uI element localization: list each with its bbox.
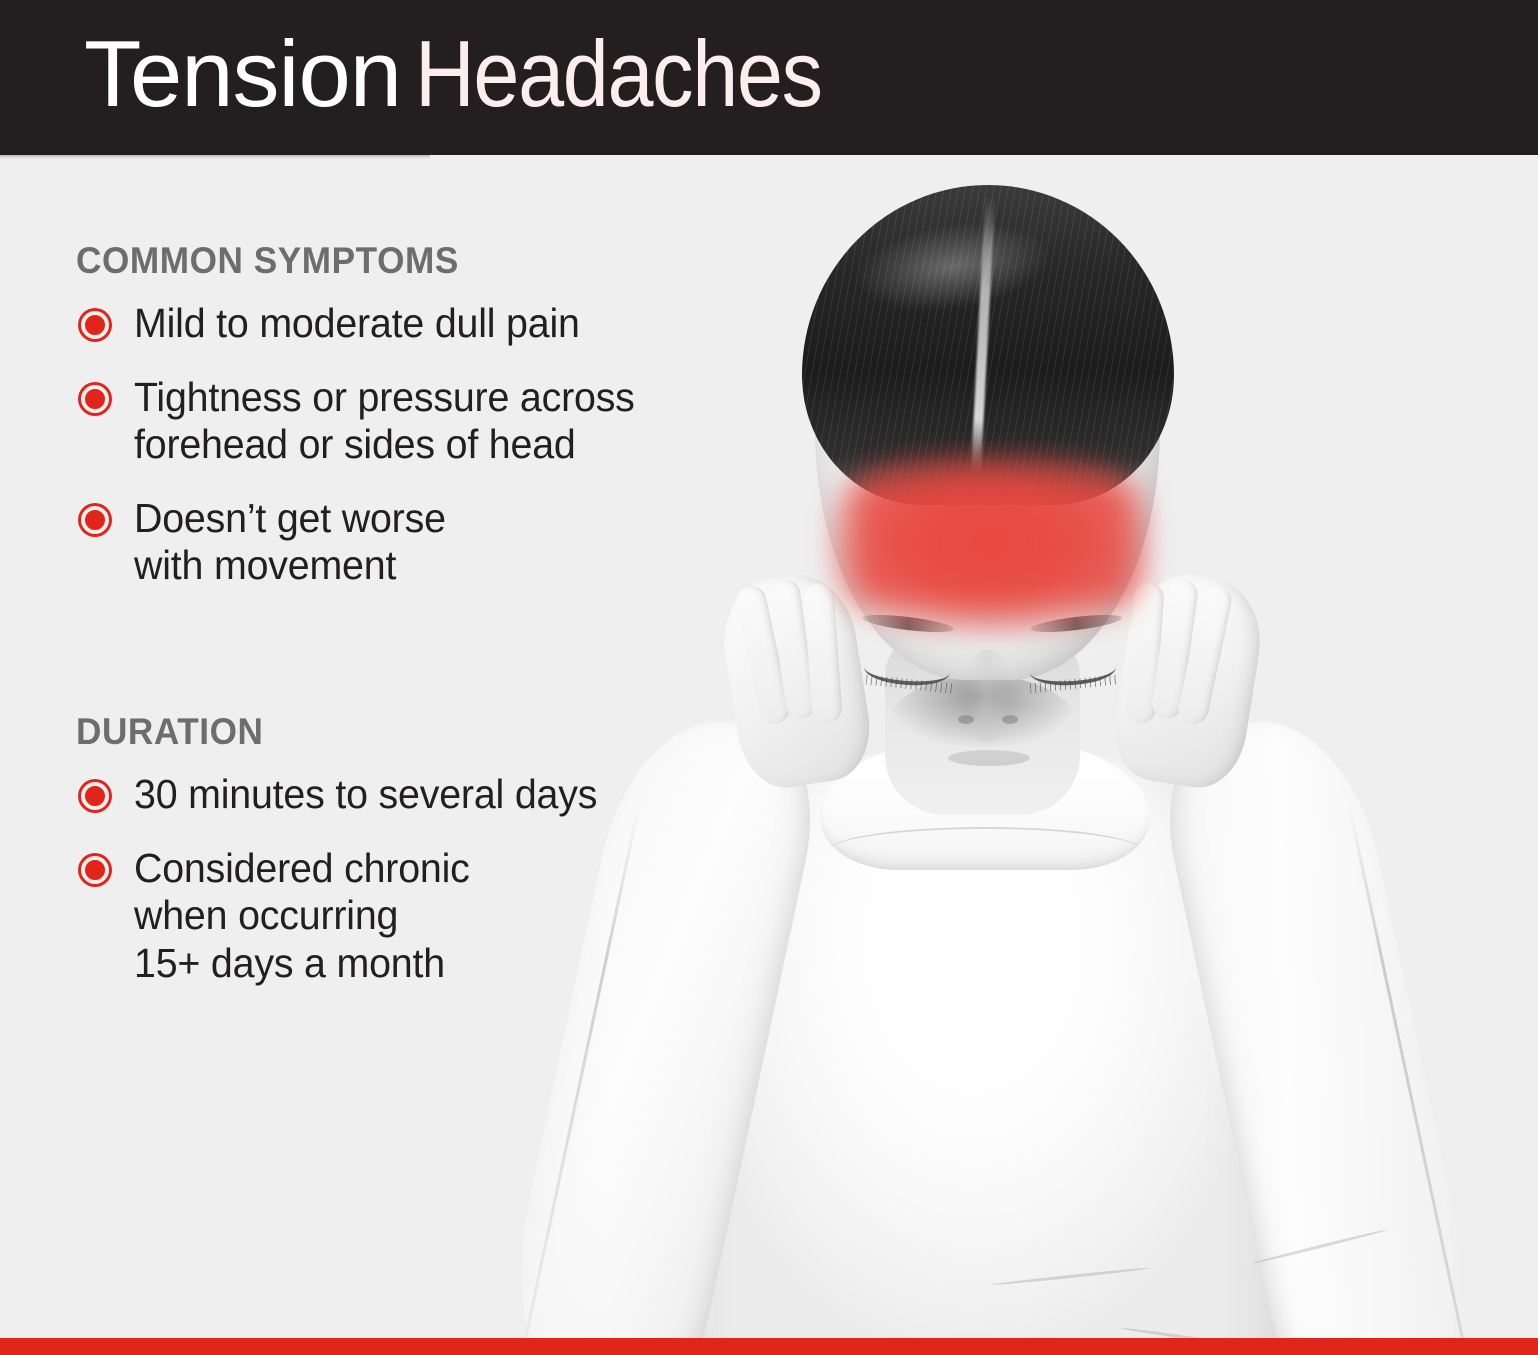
right-nostril	[1002, 715, 1018, 724]
bullet-line: Mild to moderate dull pain	[134, 300, 635, 348]
page-title-part-2: Headaches	[415, 27, 822, 121]
footer-accent-bar	[0, 1338, 1538, 1355]
nose	[966, 650, 1010, 742]
duration-bullet-list: 30 minutes to several days Considered ch…	[76, 771, 617, 987]
bullet-line: 15+ days a month	[134, 940, 597, 988]
page-title: TensionHeadaches	[84, 27, 877, 121]
section-duration: DURATION 30 minutes to several days Cons…	[76, 711, 617, 1013]
target-bullet-icon	[78, 503, 112, 537]
target-bullet-icon	[78, 382, 112, 416]
infographic-page: TensionHeadaches	[0, 0, 1538, 1355]
bullet-line: forehead or sides of head	[134, 421, 635, 469]
list-item: Mild to moderate dull pain	[76, 300, 656, 348]
list-item: Doesn’t get worse with movement	[76, 495, 656, 590]
section-common-symptoms: COMMON SYMPTOMS Mild to moderate dull pa…	[76, 240, 656, 616]
section-heading-symptoms: COMMON SYMPTOMS	[76, 240, 627, 282]
bullet-line: with movement	[134, 542, 635, 590]
symptom-bullet-list: Mild to moderate dull pain Tightness or …	[76, 300, 656, 590]
content-column: COMMON SYMPTOMS Mild to moderate dull pa…	[0, 155, 760, 1340]
collar-seam	[828, 827, 1142, 875]
bullet-line: 30 minutes to several days	[134, 771, 597, 819]
list-item: 30 minutes to several days	[76, 771, 617, 819]
pain-overlay-band	[825, 450, 1155, 635]
mouth	[948, 750, 1030, 766]
bullet-line: Doesn’t get worse	[134, 495, 635, 543]
bullet-line: when occurring	[134, 892, 597, 940]
bullet-line: Tightness or pressure across	[134, 374, 635, 422]
header-bar: TensionHeadaches	[0, 0, 1538, 155]
target-bullet-icon	[78, 853, 112, 887]
section-heading-duration: DURATION	[76, 711, 589, 753]
target-bullet-icon	[78, 779, 112, 813]
list-item: Tightness or pressure across forehead or…	[76, 374, 656, 469]
left-nostril	[958, 715, 974, 724]
bullet-line: Considered chronic	[134, 845, 597, 893]
page-title-part-1: Tension	[84, 21, 401, 126]
target-bullet-icon	[78, 308, 112, 342]
list-item: Considered chronic when occurring 15+ da…	[76, 845, 617, 988]
